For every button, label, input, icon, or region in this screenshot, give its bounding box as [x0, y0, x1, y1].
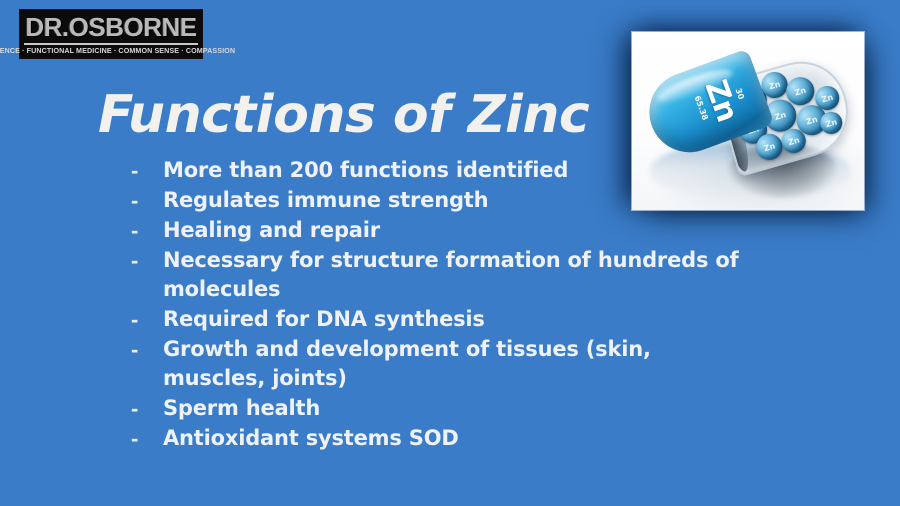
bullet-marker: - [131, 216, 163, 245]
bullet-marker: - [131, 305, 163, 334]
list-item: - Necessary for structure formation of h… [131, 246, 831, 304]
bullet-text: Antioxidant systems SOD [163, 424, 459, 453]
list-item: - Antioxidant systems SOD [131, 424, 831, 453]
bullet-text: Healing and repair [163, 216, 380, 245]
slide-title: Functions of Zinc [98, 86, 589, 144]
bullet-marker: - [131, 156, 163, 185]
list-item: - Healing and repair [131, 216, 831, 245]
bullet-marker: - [131, 394, 163, 423]
bullet-text: Growth and development of tissues (skin,… [163, 335, 651, 393]
brand-logo-name: DR.OSBORNE [25, 13, 196, 41]
list-item: - Required for DNA synthesis [131, 305, 831, 334]
bullet-text: Sperm health [163, 394, 320, 423]
bullet-marker: - [131, 424, 163, 453]
brand-logo-tagline: SCIENCE · FUNCTIONAL MEDICINE · COMMON S… [0, 47, 235, 56]
bullet-text: Required for DNA synthesis [163, 305, 485, 334]
bullet-marker: - [131, 246, 163, 275]
bullet-text: Necessary for structure formation of hun… [163, 246, 831, 304]
brand-logo: DR.OSBORNE SCIENCE · FUNCTIONAL MEDICINE… [19, 9, 203, 59]
bullet-text: Regulates immune strength [163, 186, 488, 215]
brand-logo-divider [24, 43, 198, 45]
bullet-text: More than 200 functions identified [163, 156, 568, 185]
slide-canvas: DR.OSBORNE SCIENCE · FUNCTIONAL MEDICINE… [0, 0, 900, 506]
list-item: - Growth and development of tissues (ski… [131, 335, 831, 393]
bullet-marker: - [131, 335, 163, 364]
bullet-marker: - [131, 186, 163, 215]
zinc-capsule-image: Zn Zn Zn Zn Zn Zn Zn Zn Zn Zn 30 Zn 65.3… [632, 32, 864, 210]
list-item: - Sperm health [131, 394, 831, 423]
capsule-photo-canvas: Zn Zn Zn Zn Zn Zn Zn Zn Zn Zn 30 Zn 65.3… [632, 32, 864, 210]
